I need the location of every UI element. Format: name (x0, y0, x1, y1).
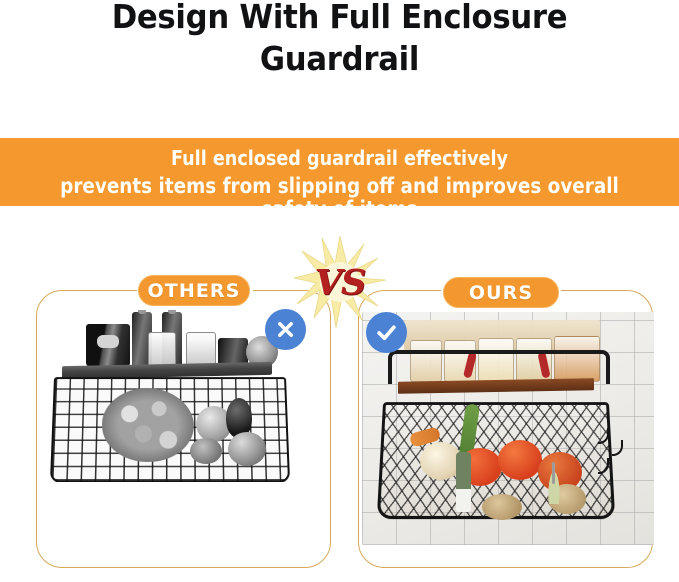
page-title-line-2: Guardrail (24, 38, 655, 80)
potato-3 (482, 494, 522, 520)
pepper (190, 438, 222, 464)
ours-product-photo (362, 312, 654, 545)
grinder-1-knob (138, 310, 146, 314)
feature-banner: Full enclosed guardrail effectively prev… (0, 138, 679, 206)
versus-badge: VS (292, 234, 388, 330)
ours-label-pill: OURS (443, 277, 559, 308)
page-title-line-1: Design With Full Enclosure (24, 0, 655, 38)
versus-label: VS (292, 234, 388, 330)
feature-banner-line-1: Full enclosed guardrail effectively (41, 148, 639, 169)
tomato-2 (498, 440, 542, 480)
comparison-section: OTHERS VS (0, 206, 679, 582)
tomato (228, 432, 266, 466)
whisk (546, 462, 562, 504)
page-title: Design With Full Enclosure Guardrail (24, 0, 655, 80)
utensil-green (456, 452, 471, 512)
grinder-2-knob (168, 310, 176, 314)
infographic-page: Design With Full Enclosure Guardrail Ful… (0, 0, 679, 582)
can-large-label (97, 335, 119, 348)
feature-banner-line-2: prevents items from slipping off and imp… (49, 175, 630, 206)
lettuce (102, 388, 194, 462)
others-label-pill: OTHERS (138, 275, 250, 306)
